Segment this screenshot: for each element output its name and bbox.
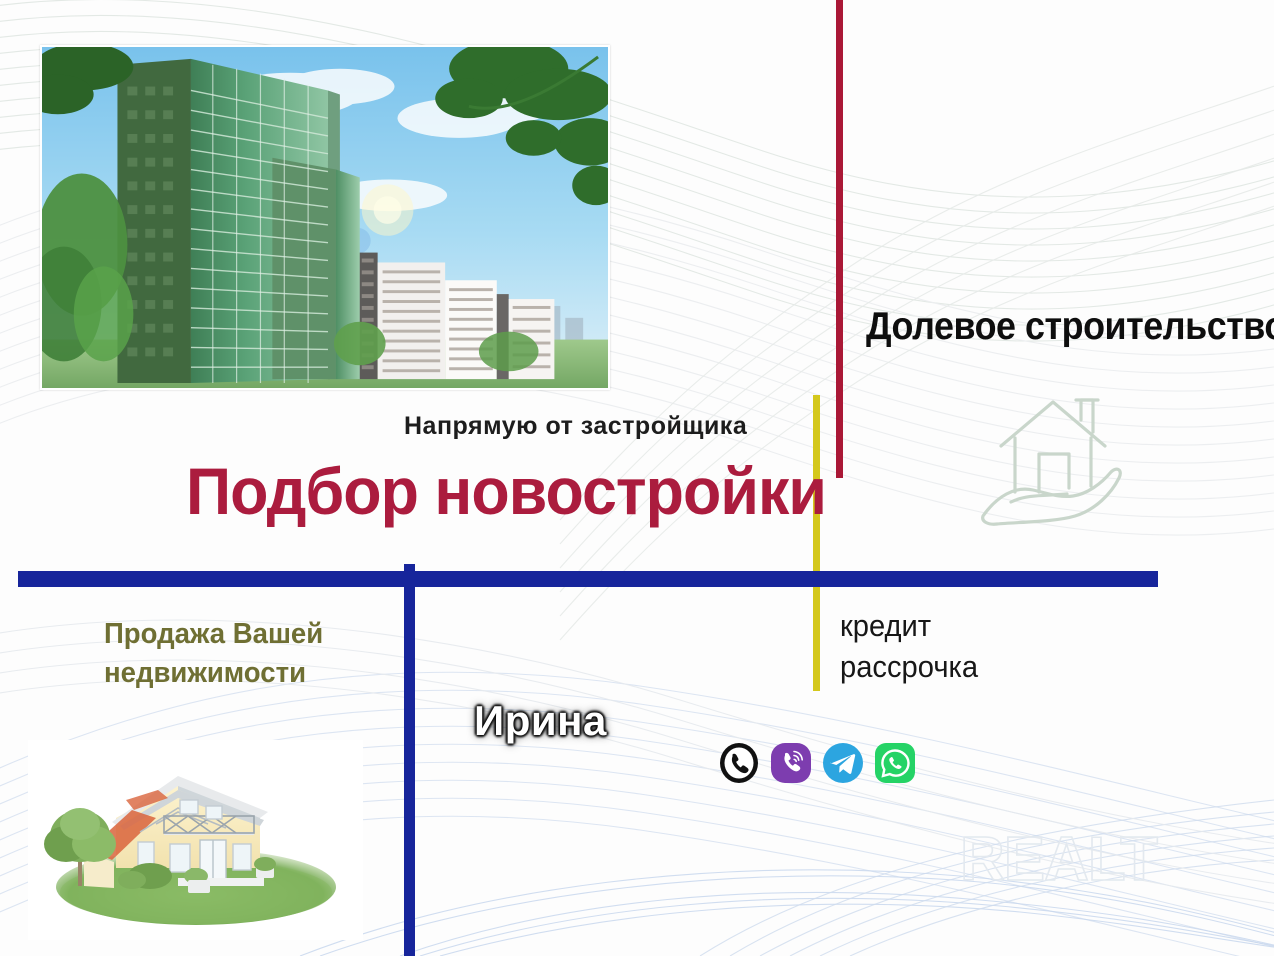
service-credit-installment: кредит рассрочка bbox=[840, 606, 978, 688]
watermark-text: REALT bbox=[960, 825, 1158, 894]
service-sale-of-property: Продажа Вашей недвижимости bbox=[104, 615, 323, 692]
advertisement-banner: Долевое строительство Напрямую от застро… bbox=[0, 0, 1274, 956]
yellow-vertical-divider bbox=[813, 395, 820, 691]
headline-eyebrow: Напрямую от застройщика bbox=[404, 414, 747, 439]
service-credit-line2: рассрочка bbox=[840, 647, 978, 688]
contact-channels[interactable] bbox=[718, 742, 916, 784]
viber-icon[interactable] bbox=[770, 742, 812, 784]
blue-vertical-divider bbox=[404, 564, 415, 956]
contact-name: Ирина bbox=[474, 700, 607, 742]
service-dolevoe-stroitelstvo: Долевое строительство bbox=[866, 307, 1274, 346]
phone-icon[interactable] bbox=[718, 742, 760, 784]
house-in-hand-icon bbox=[975, 388, 1135, 533]
realt-watermark: REALT bbox=[958, 824, 1208, 898]
service-sale-line2: недвижимости bbox=[104, 654, 323, 693]
page-title: Подбор новостройки bbox=[186, 458, 826, 524]
telegram-icon[interactable] bbox=[822, 742, 864, 784]
crimson-vertical-divider bbox=[836, 0, 843, 478]
service-sale-line1: Продажа Вашей bbox=[104, 615, 323, 654]
whatsapp-icon[interactable] bbox=[874, 742, 916, 784]
cottage-photo bbox=[28, 740, 363, 940]
service-credit-line1: кредит bbox=[840, 606, 978, 647]
new-building-photo bbox=[40, 45, 610, 390]
blue-horizontal-divider bbox=[18, 571, 1158, 587]
